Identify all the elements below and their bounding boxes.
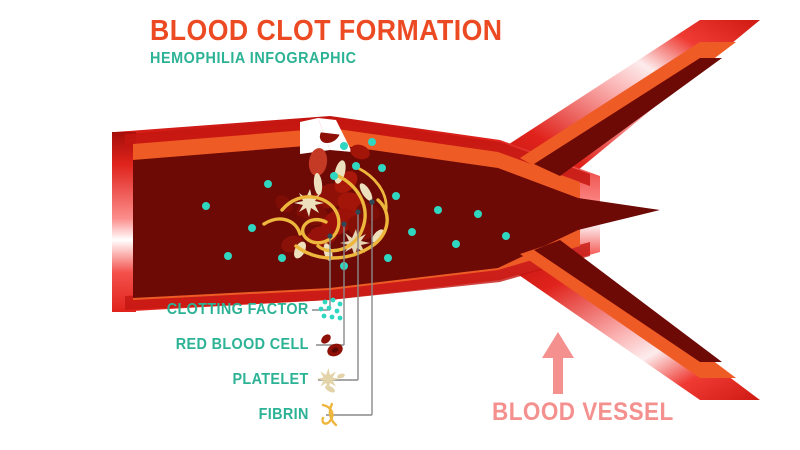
page-subtitle: HEMOPHILIA INFOGRAPHIC <box>150 51 528 68</box>
vessel-left-cap <box>112 132 136 312</box>
red-blood-cell-icon <box>316 330 350 360</box>
legend-item-fibrin[interactable]: FIBRIN <box>120 397 350 432</box>
legend-label-red-blood-cell: RED BLOOD CELL <box>176 336 309 354</box>
blood-vessel-label: BLOOD VESSEL <box>492 398 674 427</box>
blood-vessel-arrow <box>542 332 574 394</box>
legend-item-red-blood-cell[interactable]: RED BLOOD CELL <box>120 327 350 362</box>
page-title: BLOOD CLOT FORMATION <box>150 16 536 46</box>
platelet-icon <box>316 365 350 395</box>
legend-label-platelet: PLATELET <box>233 371 309 389</box>
fibrin-icon <box>316 400 350 430</box>
infographic-page: BLOOD CLOT FORMATION HEMOPHILIA INFOGRAP… <box>0 0 800 450</box>
legend-label-fibrin: FIBRIN <box>259 406 309 424</box>
title-block: BLOOD CLOT FORMATION HEMOPHILIA INFOGRAP… <box>150 16 570 68</box>
legend: CLOTTING FACTOR RED BLOOD CELL <box>120 292 350 432</box>
legend-item-clotting-factor[interactable]: CLOTTING FACTOR <box>120 292 350 327</box>
clotting-factor-icon <box>316 295 350 325</box>
legend-item-platelet[interactable]: PLATELET <box>120 362 350 397</box>
legend-label-clotting-factor: CLOTTING FACTOR <box>167 301 309 319</box>
